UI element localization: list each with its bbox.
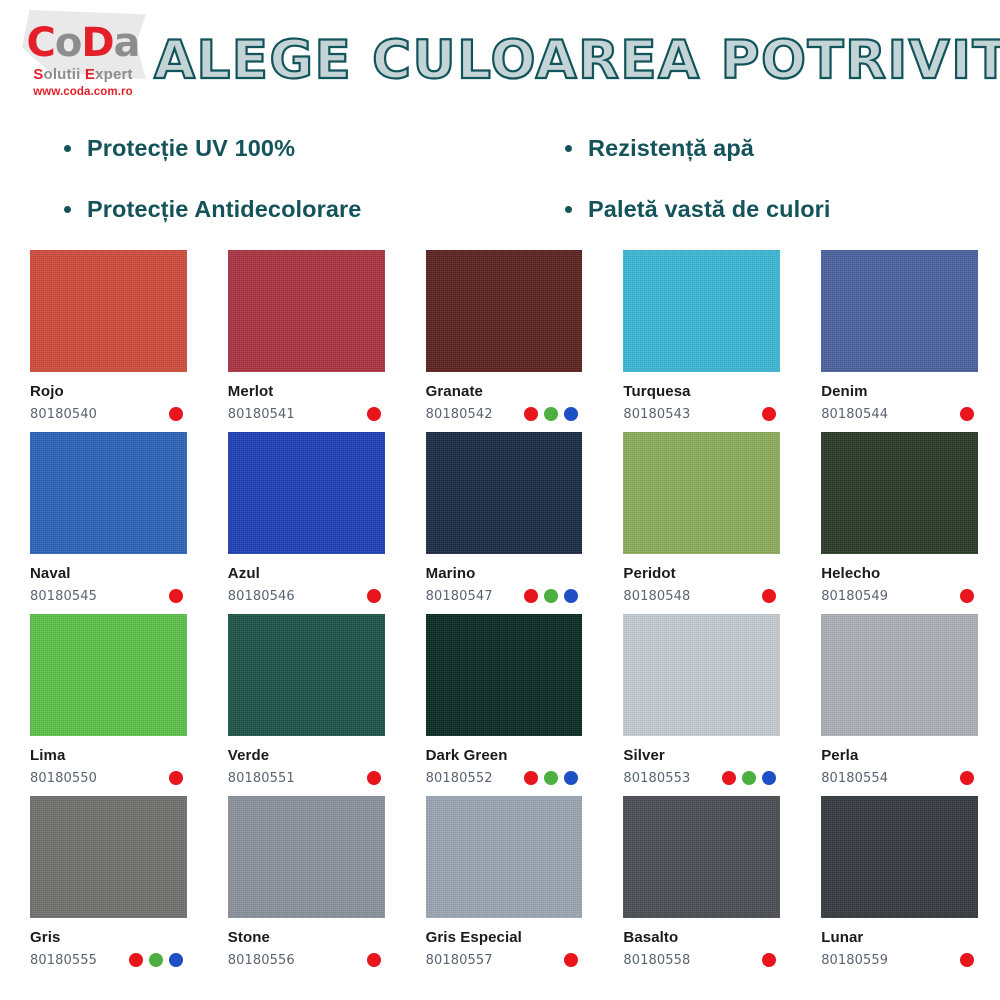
fabric-texture-overlay <box>623 796 780 918</box>
feature-label: Protecție Antidecolorare <box>87 197 361 223</box>
swatch-code-row: 80180542 <box>426 406 583 422</box>
swatch-code: 80180555 <box>30 953 97 968</box>
swatch-code: 80180540 <box>30 407 97 422</box>
swatch-cell[interactable]: Basalto80180558 <box>623 796 780 978</box>
swatch-code: 80180547 <box>426 589 493 604</box>
swatch-availability-dots <box>960 771 978 785</box>
fabric-texture-overlay <box>228 796 385 918</box>
swatch-code-row: 80180558 <box>623 952 780 968</box>
swatch-code-row: 80180551 <box>228 770 385 786</box>
swatch-cell[interactable]: Dark Green80180552 <box>426 614 583 796</box>
swatch-code-row: 80180553 <box>623 770 780 786</box>
swatch-color-block[interactable] <box>821 796 978 918</box>
swatch-code-row: 80180548 <box>623 588 780 604</box>
fabric-texture-overlay <box>30 432 187 554</box>
swatch-cell[interactable]: Marino80180547 <box>426 432 583 614</box>
availability-dot-red-icon <box>960 589 974 603</box>
swatch-cell[interactable]: Lima80180550 <box>30 614 187 796</box>
swatch-name: Lunar <box>821 929 978 946</box>
availability-dot-red-icon <box>722 771 736 785</box>
availability-dot-red-icon <box>960 953 974 967</box>
availability-dot-blue-icon <box>564 771 578 785</box>
swatch-code: 80180541 <box>228 407 295 422</box>
logo-tagline-s: S <box>33 66 43 83</box>
availability-dot-green-icon <box>742 771 756 785</box>
fabric-texture-overlay <box>623 250 780 372</box>
swatch-code: 80180554 <box>821 771 888 786</box>
availability-dot-red-icon <box>762 407 776 421</box>
availability-dot-red-icon <box>762 953 776 967</box>
feature-item-water: Rezistență apă <box>517 136 960 162</box>
swatch-name: Marino <box>426 565 583 582</box>
swatch-name: Naval <box>30 565 187 582</box>
swatch-cell[interactable]: Perla80180554 <box>821 614 978 796</box>
swatch-code: 80180548 <box>623 589 690 604</box>
swatch-code-row: 80180552 <box>426 770 583 786</box>
swatch-availability-dots <box>129 953 187 967</box>
swatch-meta: Marino80180547 <box>426 554 583 604</box>
swatch-meta: Gris Especial80180557 <box>426 918 583 968</box>
availability-dot-red-icon <box>960 407 974 421</box>
swatch-color-block[interactable] <box>426 614 583 736</box>
swatch-name: Dark Green <box>426 747 583 764</box>
swatch-availability-dots <box>524 407 582 421</box>
availability-dot-blue-icon <box>564 407 578 421</box>
swatch-cell[interactable]: Helecho80180549 <box>821 432 978 614</box>
swatch-name: Granate <box>426 383 583 400</box>
swatch-color-block[interactable] <box>623 250 780 372</box>
swatch-code-row: 80180557 <box>426 952 583 968</box>
swatch-code: 80180545 <box>30 589 97 604</box>
availability-dot-red-icon <box>169 407 183 421</box>
availability-dot-blue-icon <box>169 953 183 967</box>
swatch-code-row: 80180559 <box>821 952 978 968</box>
swatch-cell[interactable]: Peridot80180548 <box>623 432 780 614</box>
logo-letter-c: C <box>26 20 54 66</box>
swatch-meta: Perla80180554 <box>821 736 978 786</box>
logo-website-url[interactable]: www.coda.com.ro <box>33 86 132 98</box>
fabric-texture-overlay <box>623 432 780 554</box>
swatch-availability-dots <box>367 953 385 967</box>
swatch-code-row: 80180541 <box>228 406 385 422</box>
fabric-texture-overlay <box>426 432 583 554</box>
logo-letter-a: a <box>114 20 140 66</box>
swatch-code: 80180558 <box>623 953 690 968</box>
swatch-code: 80180553 <box>623 771 690 786</box>
swatch-availability-dots <box>762 589 780 603</box>
swatch-cell[interactable]: Rojo80180540 <box>30 250 187 432</box>
swatch-availability-dots <box>169 407 187 421</box>
fabric-texture-overlay <box>623 614 780 736</box>
swatch-name: Peridot <box>623 565 780 582</box>
logo-tagline: Solutii Expert <box>33 66 133 83</box>
fabric-texture-overlay <box>821 432 978 554</box>
swatch-code: 80180559 <box>821 953 888 968</box>
swatch-meta: Stone80180556 <box>228 918 385 968</box>
swatch-code: 80180549 <box>821 589 888 604</box>
availability-dot-red-icon <box>367 407 381 421</box>
swatch-meta: Lunar80180559 <box>821 918 978 968</box>
swatch-color-block[interactable] <box>623 796 780 918</box>
swatch-color-block[interactable] <box>821 432 978 554</box>
swatch-code: 80180546 <box>228 589 295 604</box>
swatch-meta: Verde80180551 <box>228 736 385 786</box>
fabric-texture-overlay <box>426 614 583 736</box>
swatch-code: 80180552 <box>426 771 493 786</box>
swatch-color-block[interactable] <box>228 796 385 918</box>
swatch-color-block[interactable] <box>228 614 385 736</box>
fabric-texture-overlay <box>30 250 187 372</box>
swatch-code-row: 80180545 <box>30 588 187 604</box>
color-chart-page: CoDa Solutii Expert www.coda.com.ro ALEG… <box>0 0 1000 1000</box>
swatch-name: Gris Especial <box>426 929 583 946</box>
swatch-name: Silver <box>623 747 780 764</box>
swatch-code-row: 80180556 <box>228 952 385 968</box>
swatch-availability-dots <box>960 407 978 421</box>
swatch-meta: Lima80180550 <box>30 736 187 786</box>
swatch-cell[interactable]: Stone80180556 <box>228 796 385 978</box>
swatch-code-row: 80180554 <box>821 770 978 786</box>
feature-label: Protecție UV 100% <box>87 136 295 162</box>
swatch-code-row: 80180555 <box>30 952 187 968</box>
logo-tagline-e: E <box>85 66 95 83</box>
fabric-texture-overlay <box>30 796 187 918</box>
swatch-meta: Naval80180545 <box>30 554 187 604</box>
fabric-texture-overlay <box>821 614 978 736</box>
swatch-meta: Peridot80180548 <box>623 554 780 604</box>
fabric-texture-overlay <box>228 250 385 372</box>
swatch-meta: Turquesa80180543 <box>623 372 780 422</box>
bullet-dot-icon <box>64 145 71 152</box>
swatch-color-block[interactable] <box>30 614 187 736</box>
bullet-dot-icon <box>565 145 572 152</box>
swatch-code: 80180543 <box>623 407 690 422</box>
availability-dot-red-icon <box>564 953 578 967</box>
swatch-code-row: 80180540 <box>30 406 187 422</box>
swatch-cell[interactable]: Granate80180542 <box>426 250 583 432</box>
swatch-name: Helecho <box>821 565 978 582</box>
swatch-availability-dots <box>960 589 978 603</box>
swatch-name: Azul <box>228 565 385 582</box>
availability-dot-green-icon <box>544 771 558 785</box>
availability-dot-red-icon <box>762 589 776 603</box>
logo-wordmark: CoDa <box>26 21 139 65</box>
swatch-cell[interactable]: Naval80180545 <box>30 432 187 614</box>
swatch-name: Basalto <box>623 929 780 946</box>
swatch-cell[interactable]: Lunar80180559 <box>821 796 978 978</box>
swatch-cell[interactable]: Gris Especial80180557 <box>426 796 583 978</box>
swatch-availability-dots <box>762 953 780 967</box>
swatch-meta: Silver80180553 <box>623 736 780 786</box>
swatch-availability-dots <box>169 771 187 785</box>
swatch-cell[interactable]: Verde80180551 <box>228 614 385 796</box>
swatch-meta: Basalto80180558 <box>623 918 780 968</box>
logo-letter-d: D <box>81 20 113 66</box>
availability-dot-red-icon <box>367 589 381 603</box>
page-title: ALEGE CULOAREA POTRIVITA <box>154 34 1000 87</box>
availability-dot-blue-icon <box>564 589 578 603</box>
feature-item-uv: Protecție UV 100% <box>64 136 507 162</box>
logo-tagline-olutii: olutii <box>43 66 84 83</box>
logo-letter-o: o <box>55 20 81 66</box>
swatch-code-row: 80180546 <box>228 588 385 604</box>
swatch-color-block[interactable] <box>30 432 187 554</box>
fabric-texture-overlay <box>228 614 385 736</box>
swatch-name: Rojo <box>30 383 187 400</box>
swatch-availability-dots <box>367 771 385 785</box>
bullet-dot-icon <box>565 206 572 213</box>
swatch-availability-dots <box>960 953 978 967</box>
feature-item-palette: Paletă vastă de culori <box>517 197 960 223</box>
availability-dot-blue-icon <box>762 771 776 785</box>
swatch-code-row: 80180549 <box>821 588 978 604</box>
availability-dot-red-icon <box>367 771 381 785</box>
swatch-code-row: 80180544 <box>821 406 978 422</box>
swatch-name: Turquesa <box>623 383 780 400</box>
swatch-availability-dots <box>524 589 582 603</box>
swatch-code-row: 80180543 <box>623 406 780 422</box>
fabric-texture-overlay <box>821 796 978 918</box>
swatch-meta: Dark Green80180552 <box>426 736 583 786</box>
coda-logo: CoDa Solutii Expert www.coda.com.ro <box>12 8 154 110</box>
availability-dot-red-icon <box>169 771 183 785</box>
swatch-cell[interactable]: Gris80180555 <box>30 796 187 978</box>
swatch-cell[interactable]: Silver80180553 <box>623 614 780 796</box>
swatch-code: 80180542 <box>426 407 493 422</box>
availability-dot-red-icon <box>960 771 974 785</box>
swatch-name: Verde <box>228 747 385 764</box>
swatch-availability-dots <box>367 589 385 603</box>
fabric-texture-overlay <box>426 796 583 918</box>
feature-item-antifade: Protecție Antidecolorare <box>64 197 507 223</box>
swatch-code: 80180550 <box>30 771 97 786</box>
swatch-color-block[interactable] <box>623 614 780 736</box>
swatch-code: 80180551 <box>228 771 295 786</box>
availability-dot-green-icon <box>544 589 558 603</box>
availability-dot-red-icon <box>524 589 538 603</box>
color-swatch-grid: Rojo80180540Merlot80180541Granate8018054… <box>0 240 1000 978</box>
swatch-meta: Rojo80180540 <box>30 372 187 422</box>
swatch-meta: Denim80180544 <box>821 372 978 422</box>
swatch-name: Denim <box>821 383 978 400</box>
availability-dot-green-icon <box>544 407 558 421</box>
swatch-name: Merlot <box>228 383 385 400</box>
swatch-meta: Azul80180546 <box>228 554 385 604</box>
availability-dot-red-icon <box>367 953 381 967</box>
swatch-availability-dots <box>722 771 780 785</box>
swatch-code-row: 80180550 <box>30 770 187 786</box>
swatch-color-block[interactable] <box>30 796 187 918</box>
fabric-texture-overlay <box>30 614 187 736</box>
swatch-name: Lima <box>30 747 187 764</box>
fabric-texture-overlay <box>228 432 385 554</box>
swatch-color-block[interactable] <box>228 432 385 554</box>
feature-bullet-list: Protecție UV 100% Rezistență apă Protecț… <box>0 118 1000 240</box>
swatch-color-block[interactable] <box>821 614 978 736</box>
swatch-cell[interactable]: Merlot80180541 <box>228 250 385 432</box>
fabric-texture-overlay <box>426 250 583 372</box>
swatch-availability-dots <box>762 407 780 421</box>
swatch-cell[interactable]: Azul80180546 <box>228 432 385 614</box>
swatch-availability-dots <box>169 589 187 603</box>
swatch-code-row: 80180547 <box>426 588 583 604</box>
swatch-color-block[interactable] <box>30 250 187 372</box>
swatch-meta: Merlot80180541 <box>228 372 385 422</box>
swatch-color-block[interactable] <box>623 432 780 554</box>
swatch-color-block[interactable] <box>426 796 583 918</box>
availability-dot-red-icon <box>524 771 538 785</box>
swatch-meta: Granate80180542 <box>426 372 583 422</box>
swatch-name: Stone <box>228 929 385 946</box>
swatch-availability-dots <box>564 953 582 967</box>
fabric-texture-overlay <box>821 250 978 372</box>
swatch-code: 80180556 <box>228 953 295 968</box>
page-header: CoDa Solutii Expert www.coda.com.ro ALEG… <box>0 0 1000 118</box>
availability-dot-red-icon <box>524 407 538 421</box>
swatch-color-block[interactable] <box>426 432 583 554</box>
swatch-meta: Helecho80180549 <box>821 554 978 604</box>
availability-dot-green-icon <box>149 953 163 967</box>
swatch-availability-dots <box>524 771 582 785</box>
swatch-cell[interactable]: Denim80180544 <box>821 250 978 432</box>
swatch-availability-dots <box>367 407 385 421</box>
swatch-code: 80180557 <box>426 953 493 968</box>
swatch-color-block[interactable] <box>426 250 583 372</box>
availability-dot-red-icon <box>129 953 143 967</box>
swatch-color-block[interactable] <box>228 250 385 372</box>
logo-tagline-xpert: xpert <box>95 66 133 83</box>
bullet-dot-icon <box>64 206 71 213</box>
swatch-name: Gris <box>30 929 187 946</box>
availability-dot-red-icon <box>169 589 183 603</box>
swatch-color-block[interactable] <box>821 250 978 372</box>
swatch-meta: Gris80180555 <box>30 918 187 968</box>
swatch-cell[interactable]: Turquesa80180543 <box>623 250 780 432</box>
swatch-name: Perla <box>821 747 978 764</box>
feature-label: Rezistență apă <box>588 136 754 162</box>
swatch-code: 80180544 <box>821 407 888 422</box>
feature-label: Paletă vastă de culori <box>588 197 831 223</box>
